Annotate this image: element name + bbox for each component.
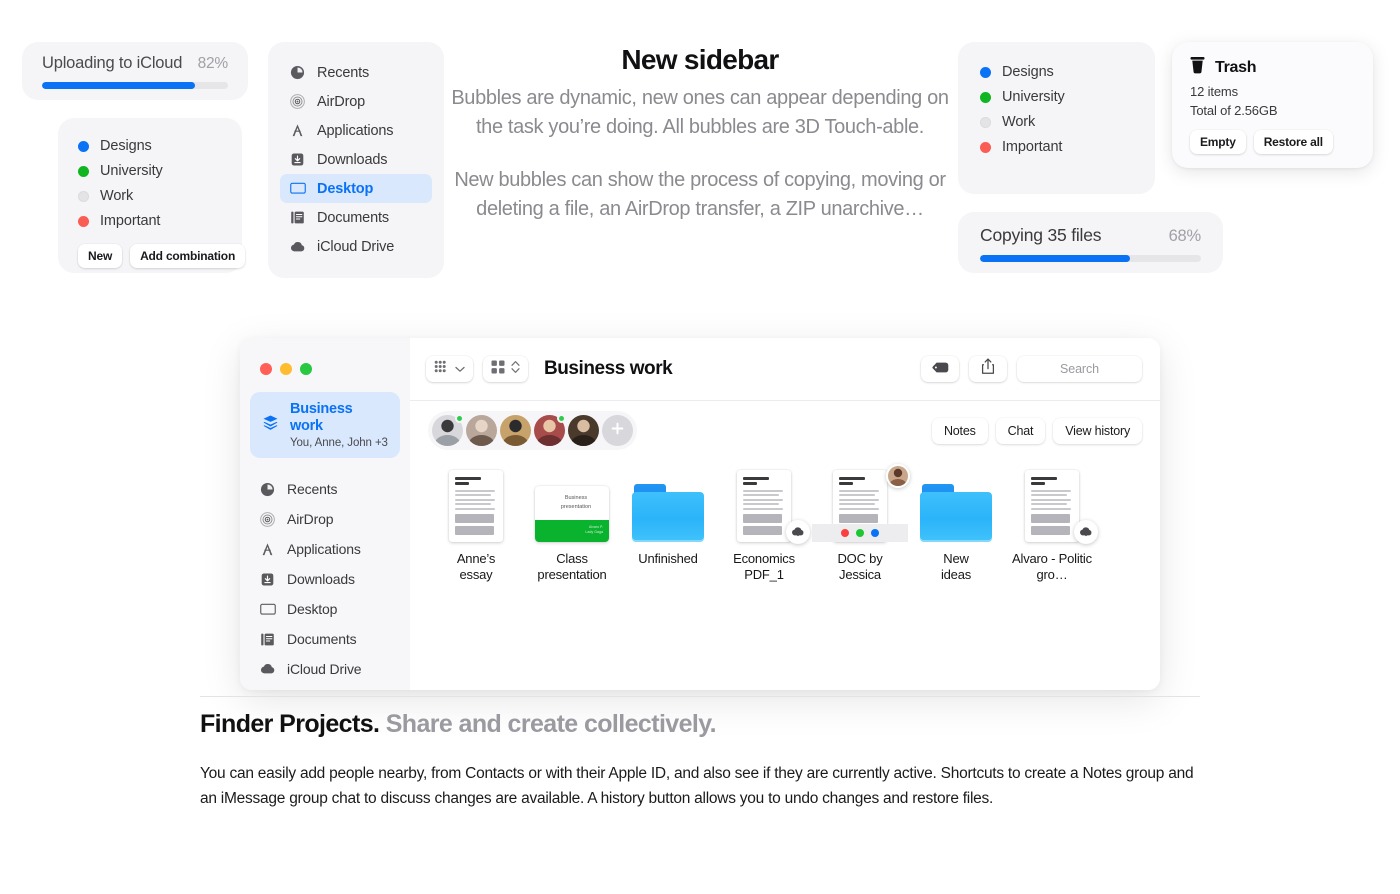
copying-header: Copying 35 files 68%: [980, 225, 1201, 246]
close-button[interactable]: [260, 363, 272, 375]
copying-title: Copying 35 files: [980, 225, 1101, 246]
sidebar-list: RecentsAirDropApplicationsDownloadsDeskt…: [280, 58, 432, 261]
file-thumbnail: [428, 468, 524, 542]
share-button[interactable]: [969, 356, 1007, 382]
tag-item-work[interactable]: Work: [78, 184, 242, 208]
caption-heading-strong: Finder Projects.: [200, 710, 379, 738]
downloads-icon: [289, 151, 306, 168]
finder-sidebar-item-label: iCloud Drive: [287, 661, 361, 677]
avatar-photo: [500, 415, 531, 446]
doc-color-dot: [871, 529, 879, 537]
sidebar-item-applications[interactable]: Applications: [280, 116, 432, 145]
finder-sidebar-item-label: Applications: [287, 541, 361, 557]
file-thumbnail: [716, 468, 812, 542]
empty-trash-button[interactable]: Empty: [1190, 130, 1246, 154]
document-thumbnail: [1025, 470, 1079, 542]
search-input[interactable]: Search: [1017, 356, 1142, 382]
file-name: DOC byJessica: [812, 551, 908, 583]
copying-percent: 68%: [1169, 227, 1201, 246]
center-paragraph-2: New bubbles can show the process of copy…: [450, 166, 950, 224]
finder-file-grid: Anne’sessayBusinesspresentationAlvaro P.…: [410, 450, 1160, 583]
avatar[interactable]: [432, 415, 463, 446]
tag-icon: [932, 360, 949, 378]
add-person-button[interactable]: [602, 415, 633, 446]
trash-buttons: Empty Restore all: [1190, 130, 1355, 154]
new-tag-button[interactable]: New: [78, 244, 122, 268]
trash-icon: [1190, 56, 1205, 79]
tags-bubble-left[interactable]: DesignsUniversityWorkImportant New Add c…: [58, 118, 242, 273]
tag-color-dot: [78, 141, 89, 152]
file-item[interactable]: Alvaro - Politicgro…: [1004, 468, 1100, 583]
tag-label: Work: [1002, 114, 1035, 130]
finder-main: Business work: [410, 338, 1160, 690]
trash-total-size: Total of 2.56GB: [1190, 101, 1355, 120]
finder-people-row: NotesChatView history: [410, 401, 1160, 450]
sidebar-item-label: Applications: [317, 123, 393, 139]
restore-all-button[interactable]: Restore all: [1254, 130, 1333, 154]
file-item[interactable]: Newideas: [908, 468, 1004, 583]
center-title: New sidebar: [450, 44, 950, 76]
avatar-group[interactable]: [428, 411, 637, 450]
chat-button[interactable]: Chat: [996, 418, 1046, 444]
doc-color-dot: [856, 529, 864, 537]
center-paragraph-1: Bubbles are dynamic, new ones can appear…: [450, 84, 950, 142]
finder-toolbar: Business work: [410, 338, 1160, 400]
tag-label: Designs: [100, 138, 152, 154]
tag-label: University: [1002, 89, 1065, 105]
applications-icon: [289, 122, 306, 139]
avatar[interactable]: [534, 415, 565, 446]
airdrop-icon: [259, 511, 276, 528]
finder-project-item[interactable]: Business work You, Anne, John +3: [250, 392, 400, 458]
uploading-percent: 82%: [198, 55, 228, 73]
copying-progress-track: [980, 255, 1201, 262]
finder-sidebar-item-desktop[interactable]: Desktop: [250, 594, 400, 624]
file-name: Classpresentation: [524, 551, 620, 583]
tag-color-dot: [980, 67, 991, 78]
finder-window-title: Business work: [544, 358, 672, 380]
file-thumbnail: BusinesspresentationAlvaro P.Lady Gaga: [524, 468, 620, 542]
documents-icon: [259, 631, 276, 648]
tag-item-important[interactable]: Important: [78, 209, 242, 233]
uploading-progress-fill: [42, 82, 195, 89]
chevron-down-icon: [455, 360, 465, 378]
finder-sidebar-item-airdrop[interactable]: AirDrop: [250, 504, 400, 534]
desktop-icon: [259, 601, 276, 618]
file-thumbnail: [908, 468, 1004, 542]
online-indicator: [455, 414, 464, 423]
finder-sidebar-item-documents[interactable]: Documents: [250, 624, 400, 654]
tag-item-university[interactable]: University: [78, 159, 242, 183]
tag-color-dot: [980, 117, 991, 128]
file-name: Newideas: [908, 551, 1004, 583]
trash-items-count: 12 items: [1190, 82, 1355, 101]
finder-sidebar-item-label: Recents: [287, 481, 337, 497]
tag-button[interactable]: [921, 356, 959, 382]
sidebar-item-recents[interactable]: Recents: [280, 58, 432, 87]
airdrop-icon: [289, 93, 306, 110]
tag-label: Work: [100, 188, 133, 204]
finder-sidebar-item-label: AirDrop: [287, 511, 333, 527]
sidebar-bubble[interactable]: RecentsAirDropApplicationsDownloadsDeskt…: [268, 42, 444, 278]
zoom-button[interactable]: [300, 363, 312, 375]
tag-item-right-designs[interactable]: Designs: [980, 60, 1155, 84]
document-thumbnail: [833, 470, 887, 542]
finder-sidebar-item-downloads[interactable]: Downloads: [250, 564, 400, 594]
file-thumbnail: [1004, 468, 1100, 542]
tags-list-right: DesignsUniversityWorkImportant: [980, 60, 1155, 159]
finder-sidebar: Business work You, Anne, John +3 Recents…: [240, 338, 410, 690]
tag-color-dot: [78, 166, 89, 177]
tag-label: Designs: [1002, 64, 1054, 80]
presentation-thumbnail: BusinesspresentationAlvaro P.Lady Gaga: [535, 486, 609, 542]
tags-bubble-right[interactable]: DesignsUniversityWorkImportant: [958, 42, 1155, 194]
grouping-button[interactable]: [426, 356, 473, 382]
tag-label: University: [100, 163, 163, 179]
finder-sidebar-item-recents[interactable]: Recents: [250, 474, 400, 504]
file-name: EconomicsPDF_1: [716, 551, 812, 583]
caption-divider: [200, 696, 1200, 697]
applications-icon: [259, 541, 276, 558]
avatar[interactable]: [500, 415, 531, 446]
copying-progress-fill: [980, 255, 1130, 262]
slide-green-band: Alvaro P.Lady Gaga: [535, 520, 609, 542]
tag-item-right-work[interactable]: Work: [980, 110, 1155, 134]
file-item[interactable]: BusinesspresentationAlvaro P.Lady GagaCl…: [524, 468, 620, 583]
trash-title: Trash: [1215, 59, 1256, 77]
sidebar-item-airdrop[interactable]: AirDrop: [280, 87, 432, 116]
tag-item-right-important[interactable]: Important: [980, 135, 1155, 159]
uploading-title: Uploading to iCloud: [42, 54, 182, 73]
grid-view-icon: [491, 360, 505, 379]
sidebar-item-label: AirDrop: [317, 94, 365, 110]
desktop-icon: [289, 180, 306, 197]
folder-body: [920, 492, 992, 542]
sidebar-item-label: iCloud Drive: [317, 239, 394, 255]
grid-dots-icon: [434, 360, 449, 378]
document-thumbnail: [449, 470, 503, 542]
tag-color-dot: [980, 142, 991, 153]
avatar[interactable]: [568, 415, 599, 446]
folder-icon: [632, 484, 704, 542]
folder-icon: [920, 484, 992, 542]
sidebar-item-desktop[interactable]: Desktop: [280, 174, 432, 203]
tag-color-dot: [78, 191, 89, 202]
doc-color-dot: [841, 529, 849, 537]
minimize-button[interactable]: [280, 363, 292, 375]
avatar-photo: [466, 415, 497, 446]
caption-block: Finder Projects. Share and create collec…: [200, 710, 1200, 811]
finder-sidebar-list: RecentsAirDropApplicationsDownloadsDeskt…: [240, 474, 410, 684]
clock-icon: [289, 64, 306, 81]
finder-window[interactable]: Business work You, Anne, John +3 Recents…: [240, 338, 1160, 690]
trash-header: Trash: [1190, 56, 1355, 79]
clock-icon: [259, 481, 276, 498]
caption-heading-muted: Share and create collectively.: [386, 710, 716, 738]
finder-sidebar-item-label: Documents: [287, 631, 356, 647]
icloud-download-badge[interactable]: [786, 520, 810, 544]
tag-label: Important: [100, 213, 160, 229]
slide-footer: Alvaro P.Lady Gaga: [585, 525, 603, 535]
file-item[interactable]: Anne’sessay: [428, 468, 524, 583]
layers-icon: [262, 414, 279, 436]
slide-text: Businesspresentation: [535, 486, 609, 512]
finder-project-members: You, Anne, John +3: [290, 437, 388, 449]
finder-sidebar-item-label: Downloads: [287, 571, 355, 587]
icloud-download-badge[interactable]: [1074, 520, 1098, 544]
sidebar-item-icloud-drive[interactable]: iCloud Drive: [280, 232, 432, 261]
file-item[interactable]: EconomicsPDF_1: [716, 468, 812, 583]
search-placeholder: Search: [1060, 362, 1099, 376]
tags-buttons: New Add combination: [78, 244, 242, 268]
sidebar-item-label: Desktop: [317, 181, 373, 197]
file-name: Unfinished: [620, 551, 716, 567]
tag-label: Important: [1002, 139, 1062, 155]
cloud-icon: [289, 238, 306, 255]
collab-action-buttons: NotesChatView history: [932, 418, 1142, 444]
file-thumbnail: [620, 468, 716, 542]
center-copy: New sidebar Bubbles are dynamic, new one…: [450, 44, 950, 224]
doc-color-dots: [833, 524, 887, 542]
tag-color-dot: [980, 92, 991, 103]
caption-body: You can easily add people nearby, from C…: [200, 761, 1200, 811]
share-icon: [981, 358, 995, 380]
file-name: Anne’sessay: [428, 551, 524, 583]
notes-button[interactable]: Notes: [932, 418, 988, 444]
file-thumbnail: [812, 468, 908, 542]
online-indicator: [557, 414, 566, 423]
finder-sidebar-item-label: Desktop: [287, 601, 337, 617]
caption-heading: Finder Projects. Share and create collec…: [200, 710, 1200, 739]
uploading-header: Uploading to iCloud 82%: [42, 54, 228, 73]
collaborator-avatar-badge[interactable]: [886, 464, 910, 488]
chevron-up-down-icon: [511, 360, 520, 379]
trash-bubble[interactable]: Trash 12 items Total of 2.56GB Empty Res…: [1172, 42, 1373, 168]
tag-item-designs[interactable]: Designs: [78, 134, 242, 158]
avatar-photo: [568, 415, 599, 446]
sidebar-item-label: Recents: [317, 65, 369, 81]
uploading-bubble[interactable]: Uploading to iCloud 82%: [22, 42, 248, 100]
page-root: Uploading to iCloud 82% DesignsUniversit…: [0, 0, 1400, 894]
file-item[interactable]: Unfinished: [620, 468, 716, 583]
downloads-icon: [259, 571, 276, 588]
sidebar-item-label: Documents: [317, 210, 389, 226]
tags-list: DesignsUniversityWorkImportant: [78, 134, 242, 233]
sidebar-item-label: Downloads: [317, 152, 387, 168]
plus-icon: [611, 422, 624, 440]
finder-project-name: Business work: [290, 401, 388, 435]
finder-sidebar-item-icloud-drive[interactable]: iCloud Drive: [250, 654, 400, 684]
window-traffic-lights: [240, 352, 410, 386]
tag-color-dot: [78, 216, 89, 227]
file-item[interactable]: DOC byJessica: [812, 468, 908, 583]
cloud-icon: [259, 661, 276, 678]
sidebar-item-downloads[interactable]: Downloads: [280, 145, 432, 174]
view-mode-button[interactable]: [483, 356, 528, 382]
folder-body: [632, 492, 704, 542]
finder-project-texts: Business work You, Anne, John +3: [290, 401, 388, 449]
copying-bubble[interactable]: Copying 35 files 68%: [958, 212, 1223, 273]
sidebar-item-documents[interactable]: Documents: [280, 203, 432, 232]
add-combination-button[interactable]: Add combination: [130, 244, 245, 268]
uploading-progress-track: [42, 82, 228, 89]
view-history-button[interactable]: View history: [1053, 418, 1142, 444]
file-name: Alvaro - Politicgro…: [1004, 551, 1100, 583]
tag-item-right-university[interactable]: University: [980, 85, 1155, 109]
finder-sidebar-item-applications[interactable]: Applications: [250, 534, 400, 564]
documents-icon: [289, 209, 306, 226]
document-thumbnail: [737, 470, 791, 542]
avatar[interactable]: [466, 415, 497, 446]
